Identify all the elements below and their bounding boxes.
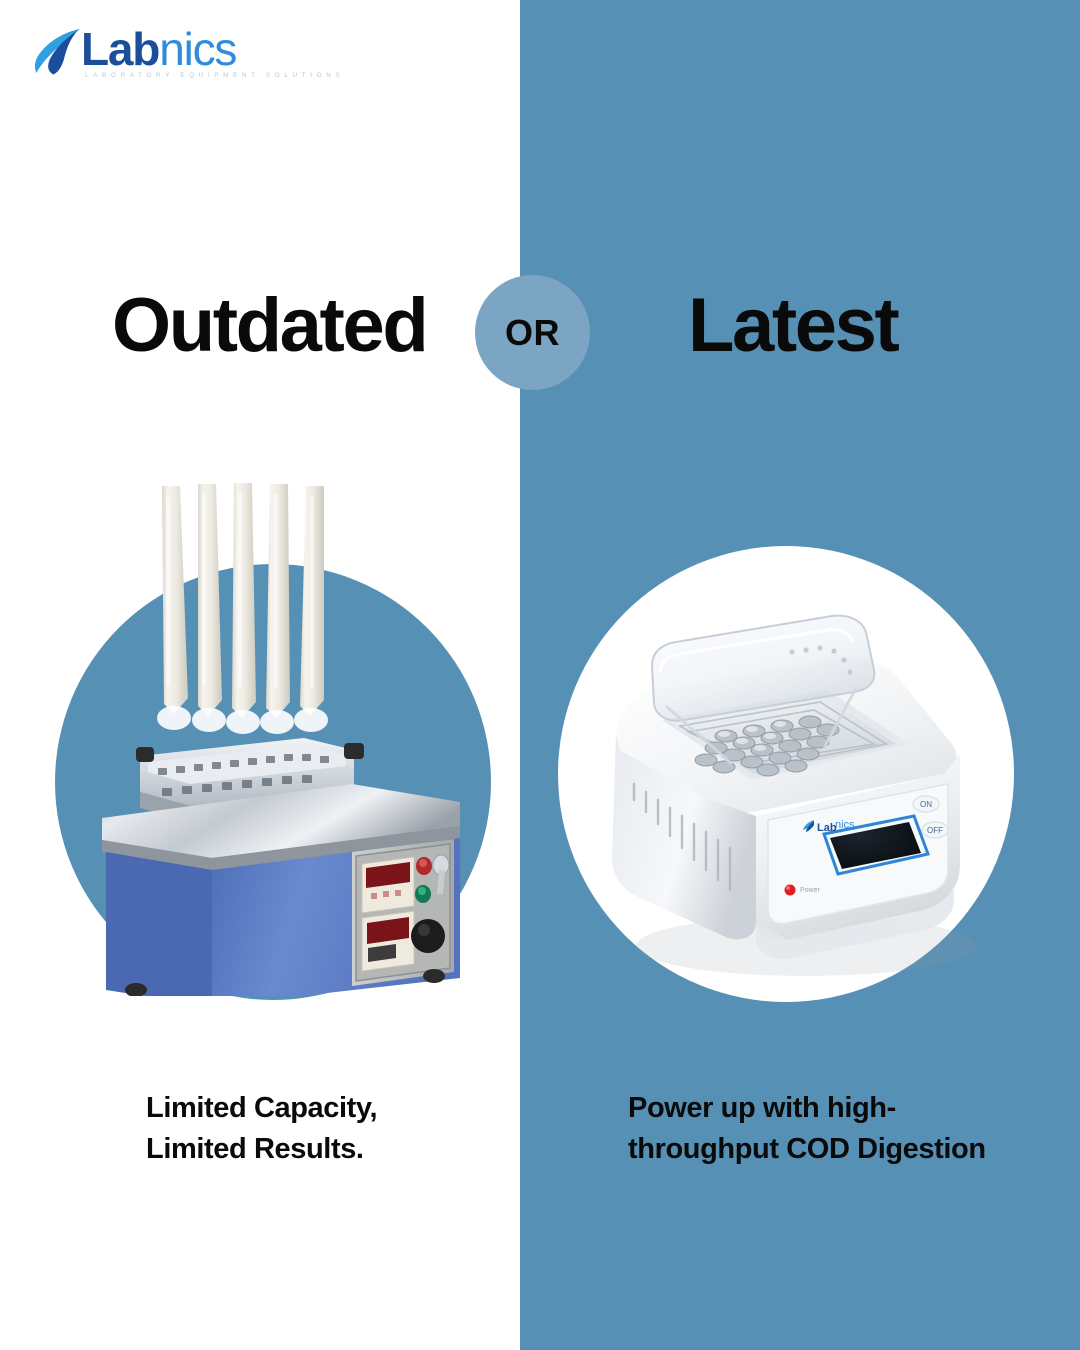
power-led: Power [785,885,821,896]
poster-canvas: Labnics LABORATORY EQUIPMENT SOLUTIONS O… [0,0,1080,1350]
svg-text:nics: nics [835,819,855,831]
logo-word-nics: nics [159,23,236,75]
logo-tagline: LABORATORY EQUIPMENT SOLUTIONS [85,72,344,79]
caption-left-line2: Limited Results. [146,1129,486,1170]
condenser-tubes [157,483,328,734]
timer-controller-module [362,911,414,971]
headline-latest: Latest [688,274,897,378]
caption-left: Limited Capacity, Limited Results. [146,1088,486,1170]
cabinet-foot [423,969,445,983]
caption-right-line2: throughput COD Digestion [628,1129,1028,1170]
power-led-label: Power [800,887,821,894]
cabinet-side [106,852,212,996]
or-badge-label: OR [505,312,560,354]
caption-right-line1: Power up with high- [628,1088,1028,1129]
power-off-button: OFF [922,822,948,838]
labnics-swoosh-icon [33,26,85,78]
product-image-cod-digester: Lab nics ON OFF Power [556,548,1018,1004]
logo-word-lab: Lab [81,23,159,75]
power-off-label: OFF [927,826,943,835]
or-badge: OR [475,275,590,390]
caption-left-line1: Limited Capacity, [146,1088,486,1129]
headline-outdated: Outdated [112,274,426,378]
rotary-knob [411,919,445,953]
temperature-controller-module [362,857,414,913]
svg-text:Lab: Lab [817,822,837,834]
caption-right: Power up with high- throughput COD Diges… [628,1088,1028,1170]
logo-wordmark: Labnics [81,24,236,74]
power-on-button: ON [913,796,939,812]
product-image-legacy-water-bath [62,466,482,996]
control-panel [352,839,454,986]
power-on-label: ON [920,800,932,809]
brand-logo[interactable]: Labnics LABORATORY EQUIPMENT SOLUTIONS [33,22,273,84]
